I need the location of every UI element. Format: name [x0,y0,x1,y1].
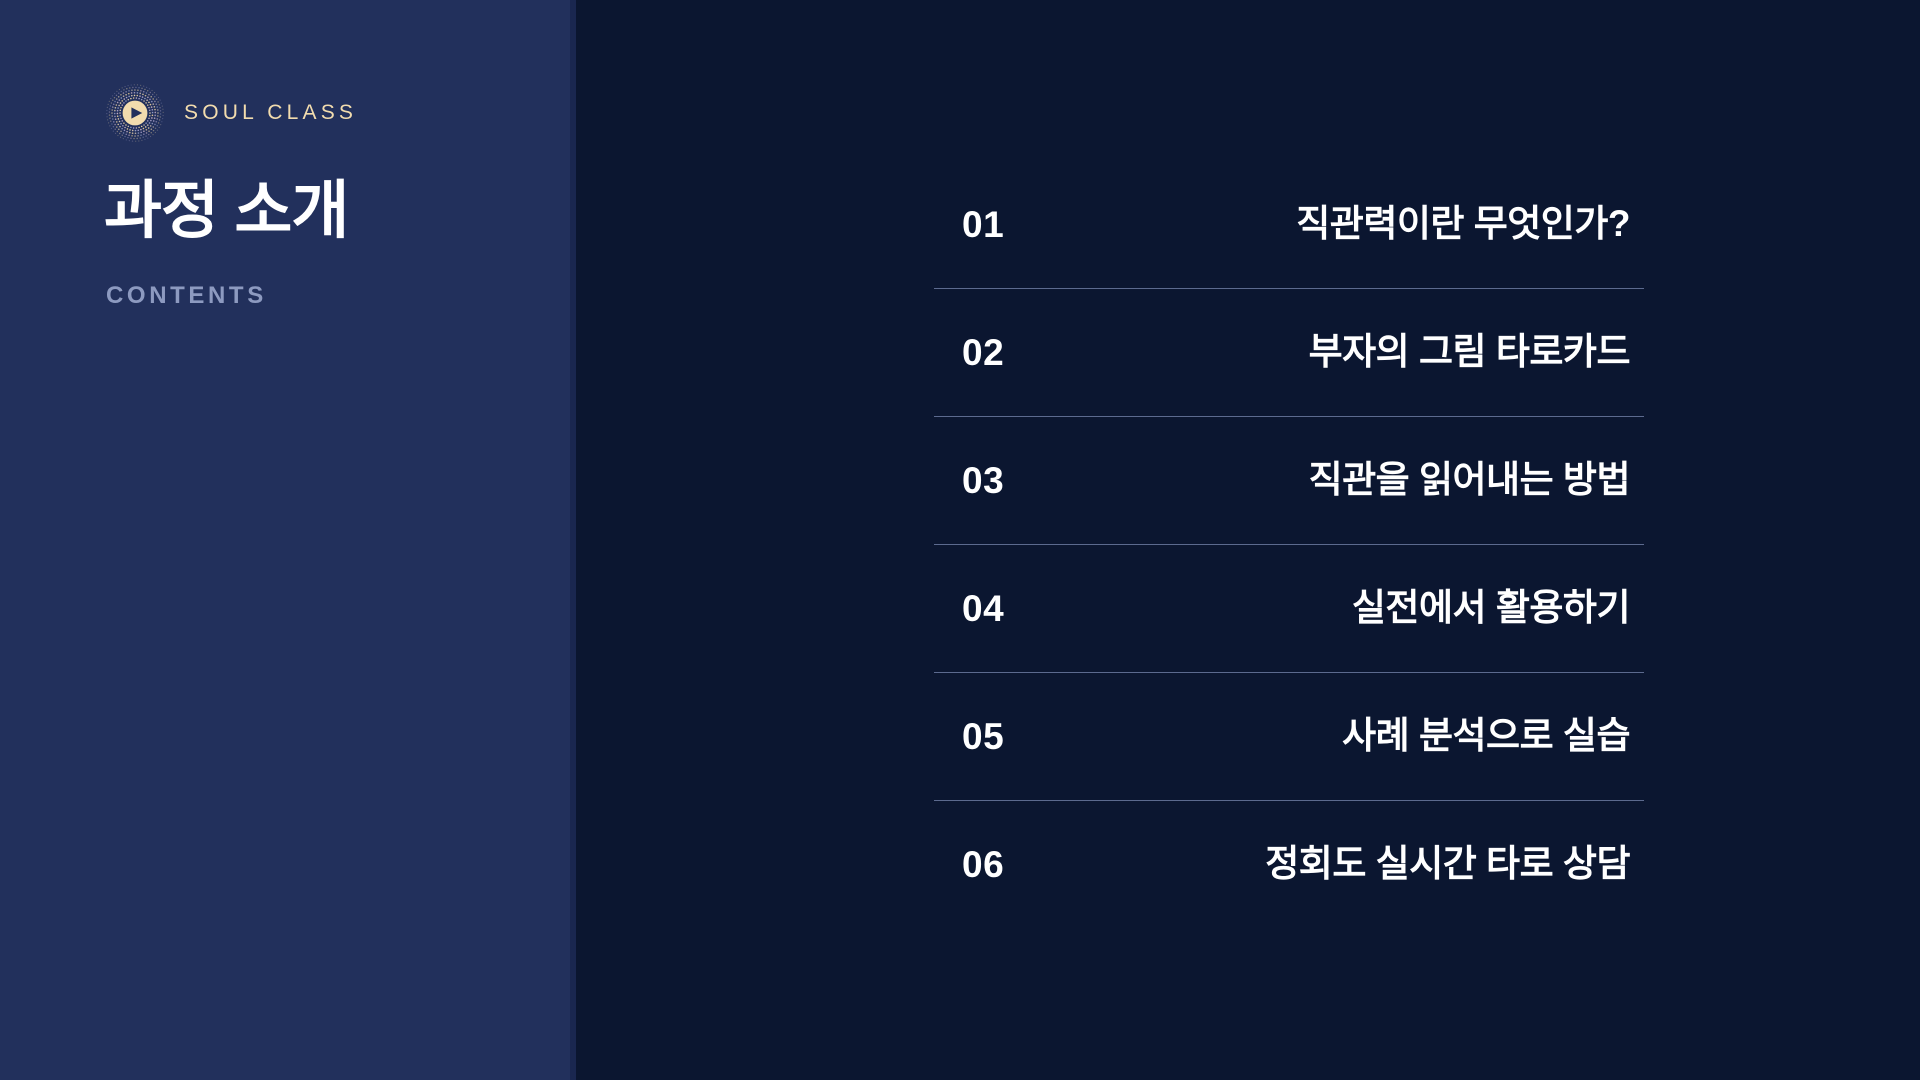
toc-item-title: 직관을 읽어내는 방법 [1309,458,1644,502]
toc-row[interactable]: 05사례 분석으로 실습 [934,672,1644,800]
toc-row[interactable]: 04실전에서 활용하기 [934,544,1644,672]
toc-item-title: 실전에서 활용하기 [1352,586,1644,630]
toc-item-number: 06 [934,846,1004,883]
brand-wordmark: SOUL CLASS [184,101,357,125]
toc-row[interactable]: 01직관력이란 무엇인가? [934,160,1644,288]
toc-item-title: 정회도 실시간 타로 상담 [1265,842,1644,886]
toc-row[interactable]: 03직관을 읽어내는 방법 [934,416,1644,544]
table-of-contents: 01직관력이란 무엇인가?02부자의 그림 타로카드03직관을 읽어내는 방법0… [934,160,1644,928]
toc-item-title: 직관력이란 무엇인가? [1296,202,1644,246]
toc-row[interactable]: 02부자의 그림 타로카드 [934,288,1644,416]
toc-row[interactable]: 06정회도 실시간 타로 상담 [934,800,1644,928]
toc-item-number: 05 [934,718,1004,755]
soul-class-sunburst-play-logo-icon [104,82,166,144]
page-title: 과정 소개 [104,178,348,244]
brand-logo: SOUL CLASS [104,82,357,144]
toc-item-number: 01 [934,206,1004,243]
toc-item-number: 04 [934,590,1004,627]
toc-item-title: 부자의 그림 타로카드 [1309,330,1644,374]
toc-item-title: 사례 분석으로 실습 [1342,714,1644,758]
toc-item-number: 03 [934,462,1004,499]
left-panel: SOUL CLASS 과정 소개 CONTENTS [0,0,570,1080]
toc-item-number: 02 [934,334,1004,371]
section-label: CONTENTS [106,282,267,310]
